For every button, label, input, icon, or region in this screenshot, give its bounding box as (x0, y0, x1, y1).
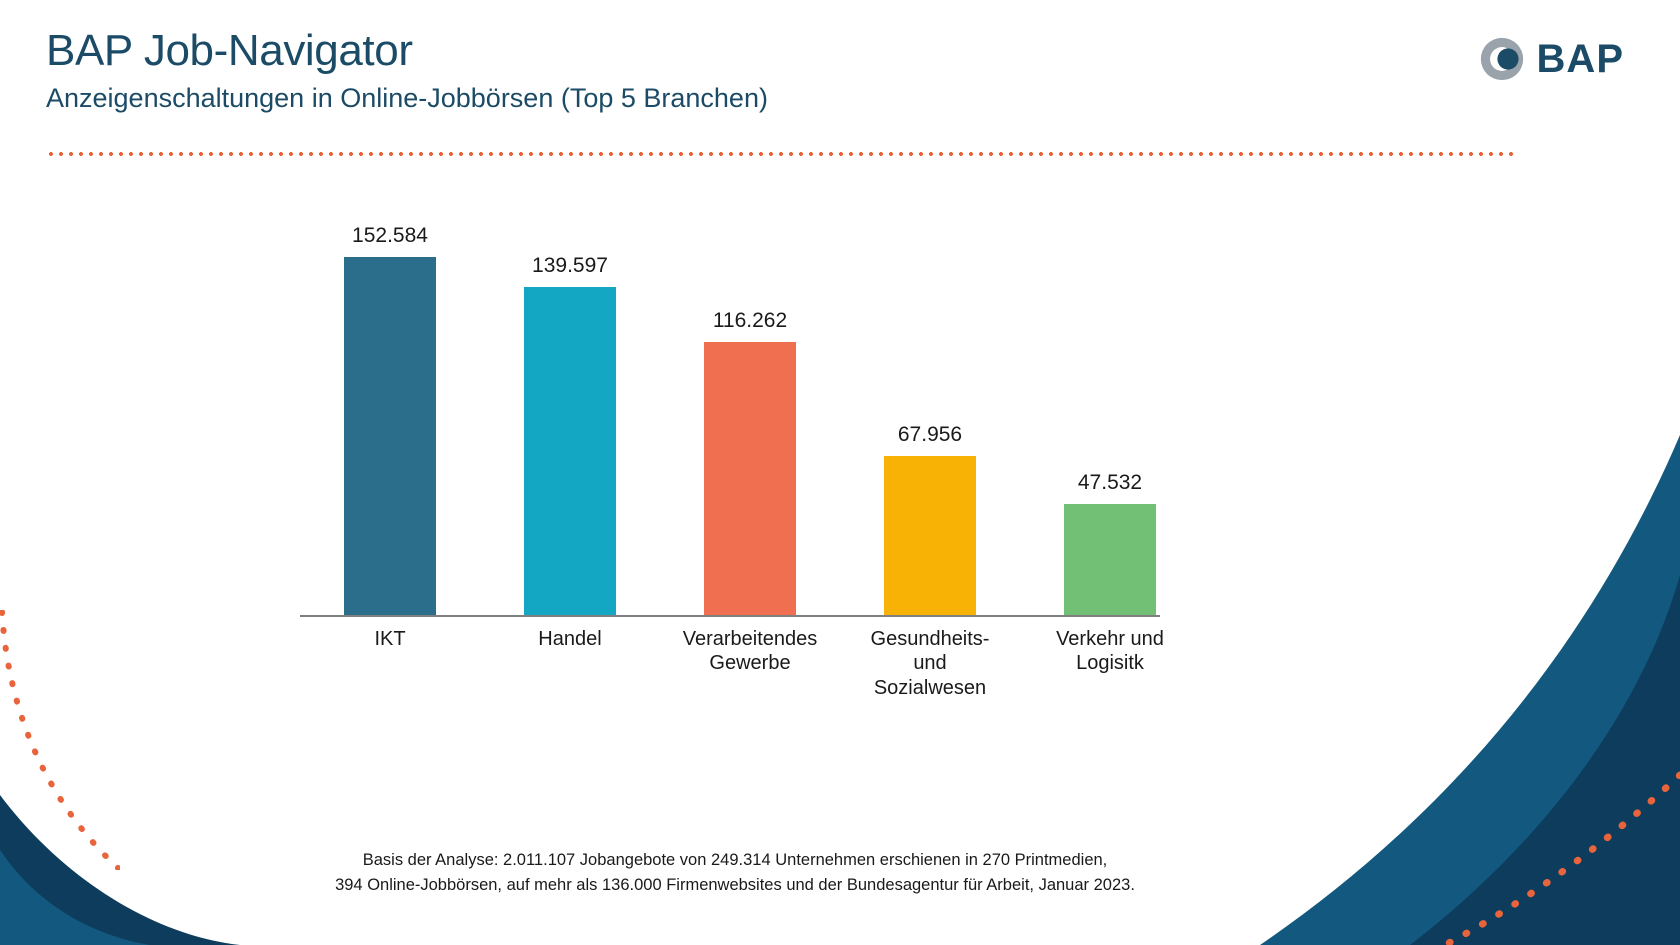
category-label-line: Gewerbe (660, 651, 840, 675)
header-divider-dotted (46, 152, 1514, 156)
bar-value-label: 152.584 (352, 224, 428, 248)
bar-value-label: 67.956 (898, 423, 962, 447)
brand-logo-text: BAP (1537, 39, 1624, 79)
bar-group: 152.584 (300, 215, 480, 615)
bar-value-label: 116.262 (713, 309, 787, 333)
bar-group: 116.262 (660, 215, 840, 615)
bar-group: 67.956 (840, 215, 1020, 615)
footnote-line-1: Basis der Analyse: 2.011.107 Jobangebote… (0, 848, 1470, 873)
category-label: Handel (480, 627, 660, 700)
bar-group: 47.532 (1020, 215, 1200, 615)
chart-axis-line (300, 615, 1160, 617)
decorative-swoosh-bottom-left (0, 645, 240, 945)
bar-rect[interactable] (884, 456, 976, 615)
category-label-line: Logisitk (1020, 651, 1200, 675)
bar-rect[interactable] (704, 342, 796, 615)
category-label-line: Gesundheits- (840, 627, 1020, 651)
category-label: Gesundheits-undSozialwesen (840, 627, 1020, 700)
category-label: IKT (300, 627, 480, 700)
page-subtitle: Anzeigenschaltungen in Online-Jobbörsen … (46, 84, 768, 114)
bar-rect[interactable] (344, 257, 436, 615)
chart-plot-area: 152.584139.597116.26267.95647.532 (300, 215, 1200, 615)
category-label-line: und (840, 651, 1020, 675)
bar-group: 139.597 (480, 215, 660, 615)
footnote-line-2: 394 Online-Jobbörsen, auf mehr als 136.0… (0, 873, 1470, 898)
brand-logo: BAP (1479, 36, 1624, 82)
footnote: Basis der Analyse: 2.011.107 Jobangebote… (0, 848, 1470, 898)
category-label: Verkehr undLogisitk (1020, 627, 1200, 700)
bar-chart: 152.584139.597116.26267.95647.532 IKTHan… (300, 215, 1200, 725)
category-label-line: IKT (300, 627, 480, 651)
category-label-line: Verarbeitendes (660, 627, 840, 651)
bar-value-label: 139.597 (532, 254, 608, 278)
bar-rect[interactable] (524, 287, 616, 615)
category-label-line: Sozialwesen (840, 676, 1020, 700)
header: BAP Job-Navigator Anzeigenschaltungen in… (46, 28, 768, 114)
bar-value-label: 47.532 (1078, 471, 1142, 495)
category-label-line: Handel (480, 627, 660, 651)
slide-canvas: BAP Job-Navigator Anzeigenschaltungen in… (0, 0, 1680, 945)
bar-rect[interactable] (1064, 504, 1156, 615)
chart-category-labels: IKTHandelVerarbeitendesGewerbeGesundheit… (300, 627, 1200, 700)
page-title: BAP Job-Navigator (46, 28, 768, 74)
category-label-line: Verkehr und (1020, 627, 1200, 651)
decorative-dotted-arc-left (0, 610, 120, 870)
category-label: VerarbeitendesGewerbe (660, 627, 840, 700)
bap-circle-logo-icon (1479, 36, 1525, 82)
